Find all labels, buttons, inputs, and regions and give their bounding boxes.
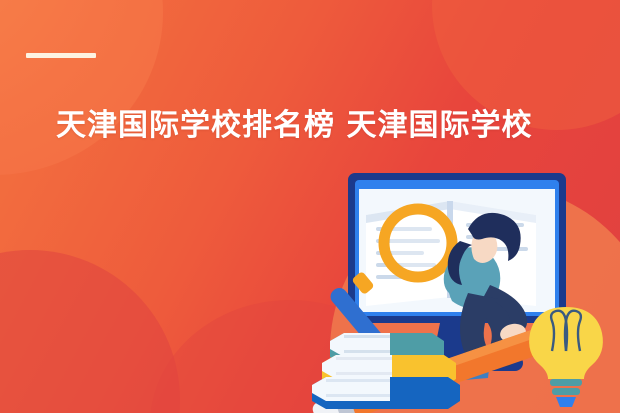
book-stack (312, 333, 460, 409)
light-bulb (529, 307, 603, 407)
page-title: 天津国际学校排名榜 天津国际学校 (56, 106, 620, 146)
student-research-illustration (300, 165, 620, 413)
decorative-rule (26, 53, 96, 58)
bulb-base-2 (552, 388, 580, 395)
bulb-base-1 (550, 379, 582, 386)
bulb-contact (556, 397, 576, 407)
cover-image: 天津国际学校排名榜 天津国际学校 (0, 0, 620, 413)
